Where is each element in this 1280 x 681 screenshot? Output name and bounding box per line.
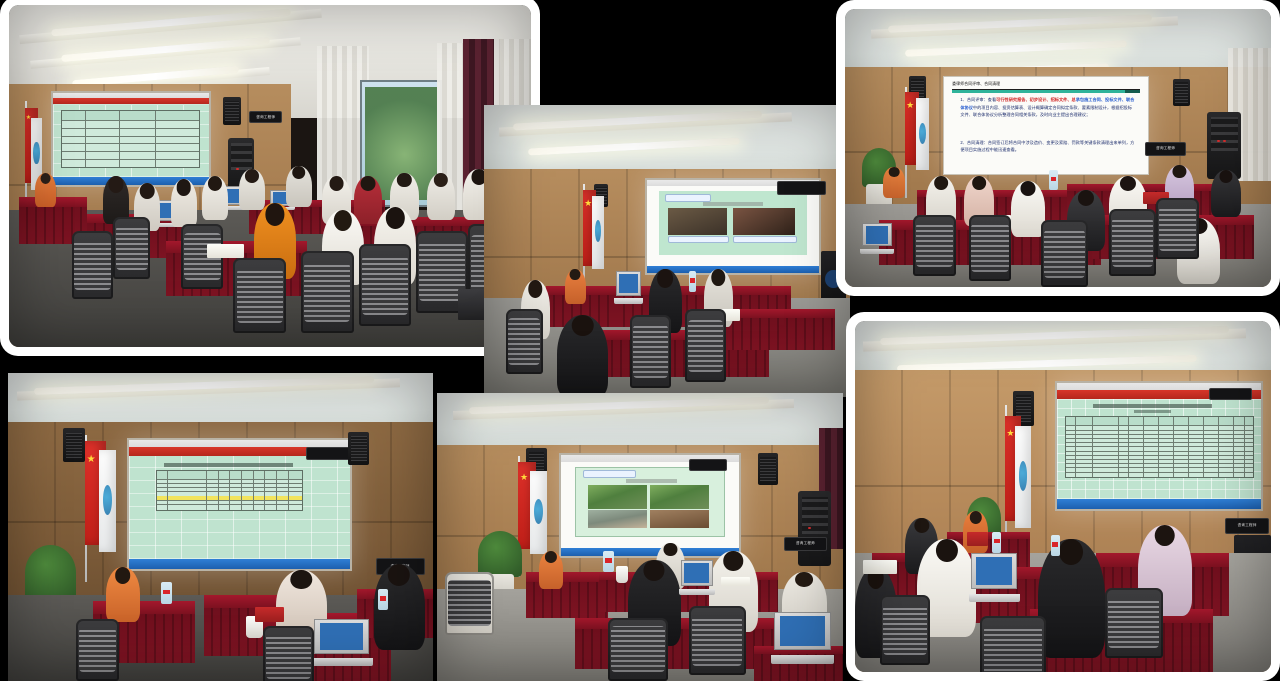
photo-bottom-left[interactable]: 咨询工程师 ★ bbox=[8, 373, 433, 681]
wall-plaque-label: 咨询工程师 bbox=[250, 112, 281, 122]
slide-paragraph-1: 1．合同评审：查看可行性研究报告、初步设计、招标文件、总承包施工合同、投标文件、… bbox=[960, 96, 1136, 135]
cost-summary-spreadsheet-room: 咨询工程师 ★ bbox=[855, 321, 1271, 672]
training-room-wide-view: 咨询工程师 ★ bbox=[9, 5, 531, 347]
photo-collage: 咨询工程师 ★ bbox=[0, 0, 1280, 681]
contract-review-slide-room: 委律师合同评审、合同清理 1．合同评审：查看可行性研究报告、初步设计、招标文件、… bbox=[845, 9, 1271, 287]
wall-display bbox=[51, 91, 212, 187]
photo-top-right[interactable]: 委律师合同评审、合同清理 1．合同评审：查看可行性研究报告、初步设计、招标文件、… bbox=[836, 0, 1280, 296]
room-with-photo-report-slide: ★ bbox=[484, 105, 850, 397]
wall-plaque-label-4: 咨询工程师 bbox=[785, 538, 826, 550]
slide-progress-bar bbox=[952, 90, 1140, 93]
checklist-table bbox=[156, 470, 304, 511]
photo-top-center[interactable]: ★ bbox=[484, 105, 850, 397]
cost-table bbox=[1065, 416, 1255, 478]
photo-top-left[interactable]: 咨询工程师 ★ bbox=[0, 0, 540, 356]
wall-plaque-label-5: 咨询工程师 bbox=[1226, 519, 1268, 533]
projection-slide: 委律师合同评审、合同清理 1．合同评审：查看可行性研究报告、初步设计、招标文件、… bbox=[943, 76, 1149, 175]
wall-plaque-label-2: 咨询工程师 bbox=[1146, 143, 1184, 154]
checklist-spreadsheet-room: 咨询工程师 ★ bbox=[8, 373, 433, 681]
wall-display bbox=[1055, 381, 1263, 511]
photo-bottom-right[interactable]: 咨询工程师 ★ bbox=[846, 312, 1280, 681]
photo-bottom-center[interactable]: 咨询工程师 ★ bbox=[437, 393, 843, 681]
site-survey-photos-room: 咨询工程师 ★ bbox=[437, 393, 843, 681]
slide-paragraph-2: 2．合同清理：合同签订后将合同中涉及造价、变更及索赔、罚款等关键条款清理出来单列… bbox=[960, 139, 1136, 164]
